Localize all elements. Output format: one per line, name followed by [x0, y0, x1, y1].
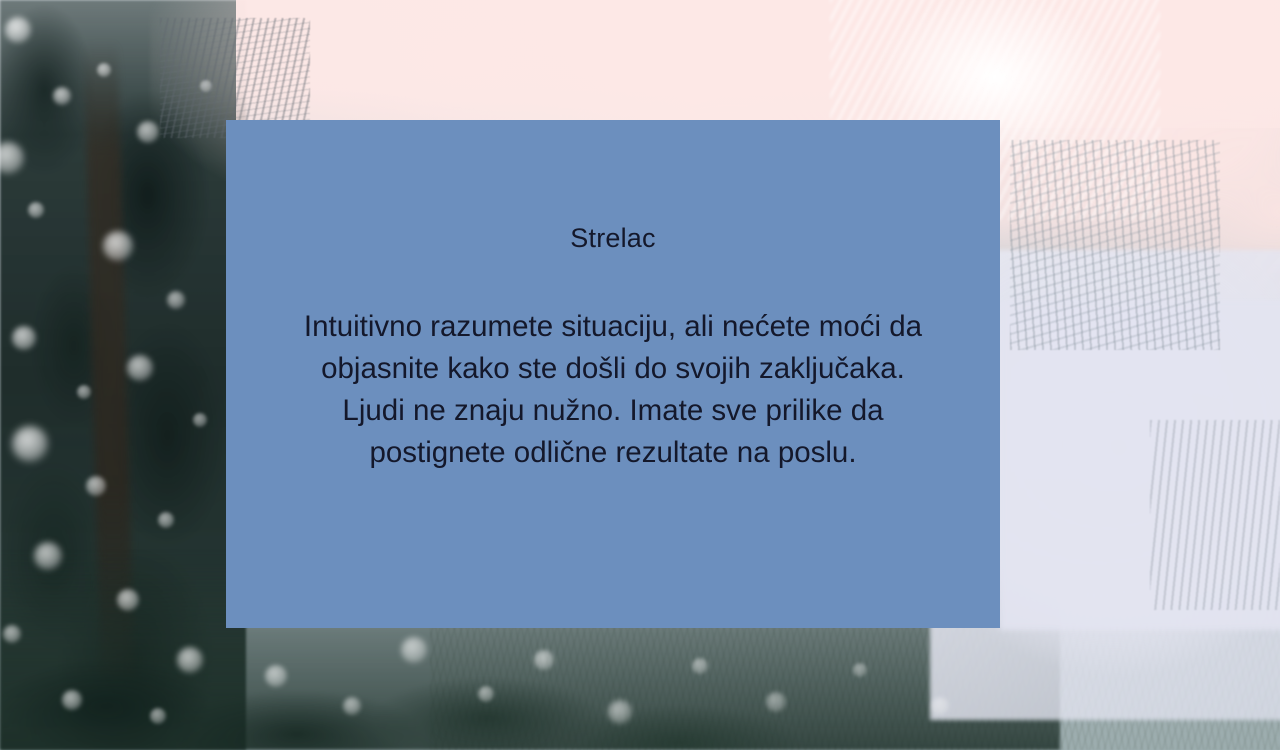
grey-brush-stroke-right: [1010, 140, 1220, 350]
horoscope-card: Strelac Intuitivno razumete situaciju, a…: [226, 120, 1000, 628]
card-body-text: Intuitivno razumete situaciju, ali nećet…: [293, 306, 933, 474]
slide-canvas: Strelac Intuitivno razumete situaciju, a…: [0, 0, 1280, 750]
grey-brush-stroke-far-right: [1150, 420, 1280, 610]
card-title: Strelac: [570, 222, 655, 254]
